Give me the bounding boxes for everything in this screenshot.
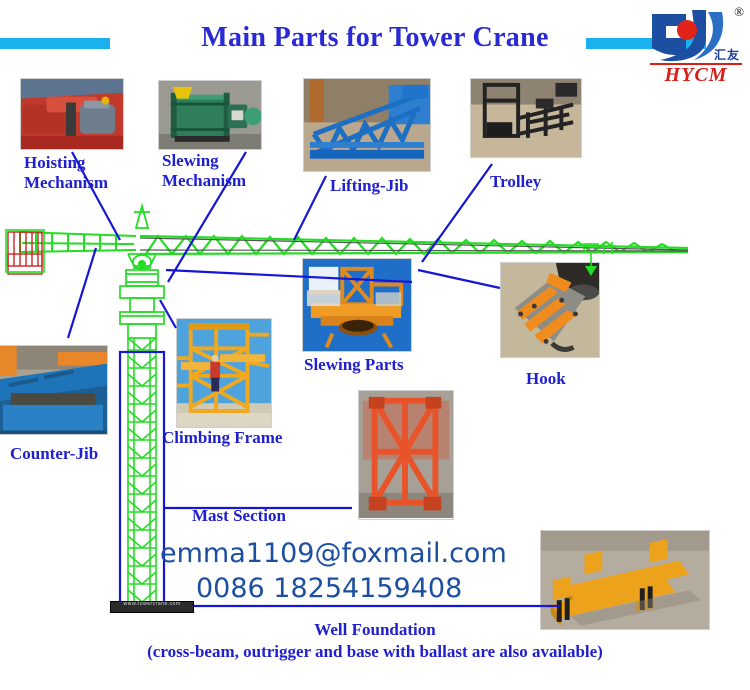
contact-email[interactable]: emma1109@foxmail.com — [160, 538, 507, 569]
crane-slewing-unit — [120, 270, 164, 338]
label-well-foundation: Well Foundation — [0, 620, 750, 640]
poster-canvas: Main Parts for Tower Crane ® 汇友 HYCM — [0, 0, 750, 690]
crane-mast — [128, 338, 156, 606]
contact-phone[interactable]: 0086 18254159408 — [196, 573, 462, 604]
crane-slewing-nub — [138, 260, 146, 268]
foundation-watermark: www.towercrane.com — [111, 601, 193, 607]
availability-note: (cross-beam, outrigger and base with bal… — [0, 642, 750, 662]
crane-base-foundation: www.towercrane.com — [110, 601, 194, 613]
leader-lines — [68, 152, 500, 338]
